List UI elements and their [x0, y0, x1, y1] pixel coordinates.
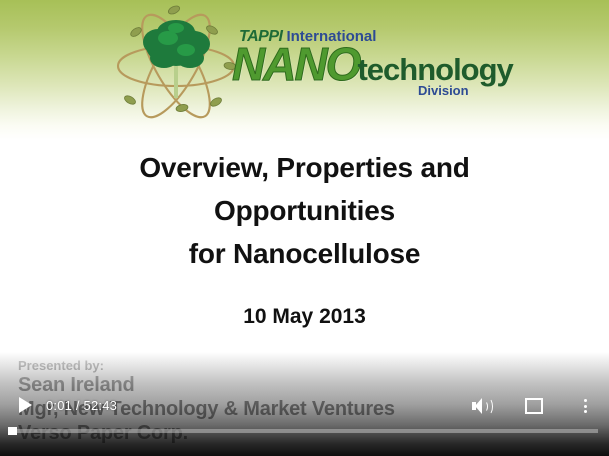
more-options-icon[interactable] [573, 393, 599, 419]
slide-title: Overview, Properties and Opportunities f… [0, 146, 609, 275]
tree-atom-logo [112, 4, 240, 128]
nanotechnology-row: NANOtechnology [232, 41, 513, 87]
volume-icon[interactable] [469, 393, 495, 419]
division-word: Division [418, 83, 469, 98]
play-button[interactable] [17, 396, 35, 416]
title-line-1: Overview, Properties and [0, 146, 609, 189]
title-line-3: for Nanocellulose [0, 232, 609, 275]
slide-date: 10 May 2013 [0, 305, 609, 329]
tappi-nano-wordmark: TAPPIInternational NANOtechnology Divisi… [232, 28, 512, 104]
logo-band: TAPPIInternational NANOtechnology Divisi… [0, 0, 609, 132]
progress-scrubber[interactable] [11, 429, 598, 433]
presented-by-label: Presented by: [18, 358, 488, 373]
presenter-name: Sean Ireland [18, 373, 488, 397]
time-display: 0:01 / 52:43 [46, 398, 117, 413]
technology-word: technology [357, 52, 512, 87]
progress-played [11, 429, 13, 433]
title-line-2: Opportunities [0, 189, 609, 232]
presentation-slide: TAPPIInternational NANOtechnology Divisi… [0, 0, 609, 456]
video-player[interactable]: TAPPIInternational NANOtechnology Divisi… [0, 0, 609, 456]
progress-handle[interactable] [8, 427, 17, 435]
right-controls-group [469, 392, 599, 420]
fullscreen-icon[interactable] [521, 393, 547, 419]
nano-word: NANO [232, 38, 359, 90]
presenter-company: Verso Paper Corp. [18, 421, 488, 445]
play-icon [19, 397, 32, 413]
